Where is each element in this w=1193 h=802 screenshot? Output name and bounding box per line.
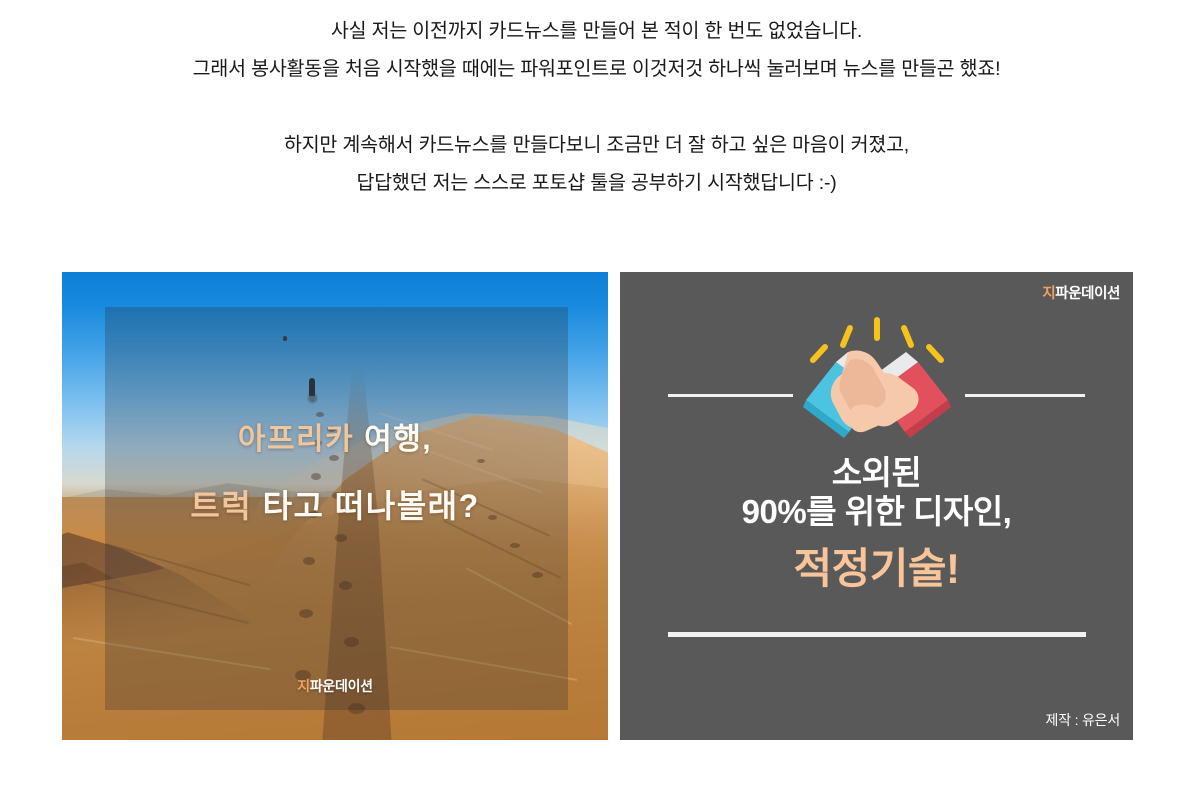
card-news-desert[interactable]: 아프리카 여행, 트럭 타고 떠나볼래? 지파운데이션 bbox=[62, 272, 608, 740]
intro-line-4: 답답했던 저는 스스로 포토샵 툴을 공부하기 시작했답니다 :-) bbox=[0, 164, 1193, 202]
logo-mark: 지 bbox=[1042, 286, 1055, 302]
logo-wordmark: 파운데이션 bbox=[310, 678, 373, 694]
divider-rule-bottom bbox=[668, 632, 1086, 637]
intro-line-1: 사실 저는 이전까지 카드뉴스를 만들어 본 적이 한 번도 없었습니다. bbox=[0, 12, 1193, 50]
desert-title-word-travel: 여행, bbox=[364, 423, 432, 456]
desert-title-line-1: 아프리카 여행, bbox=[62, 420, 608, 461]
desert-card-title: 아프리카 여행, 트럭 타고 떠나볼래? bbox=[62, 420, 608, 528]
headline-line-3-accent: 적정기술! bbox=[620, 544, 1133, 594]
intro-text-block: 사실 저는 이전까지 카드뉴스를 만들어 본 적이 한 번도 없었습니다. 그래… bbox=[0, 0, 1193, 202]
desert-card-logo: 지파운데이션 bbox=[62, 676, 608, 696]
headline-line-1: 소외된 bbox=[620, 454, 1133, 493]
intro-line-2: 그래서 봉사활동을 처음 시작했을 때에는 파워포인트로 이것저것 하나씩 눌러… bbox=[0, 50, 1193, 88]
intro-spacer bbox=[0, 88, 1193, 126]
logo-wordmark: 파운데이션 bbox=[1055, 286, 1120, 302]
gray-card-credit: 제작 : 유은서 bbox=[1046, 710, 1120, 730]
desert-title-rest: 타고 떠나볼래? bbox=[263, 488, 480, 524]
intro-line-3: 하지만 계속해서 카드뉴스를 만들다보니 조금만 더 잘 하고 싶은 마음이 커… bbox=[0, 126, 1193, 164]
handshake-illustration bbox=[792, 314, 962, 444]
gray-card-headline: 소외된 90%를 위한 디자인, 적정기술! bbox=[620, 454, 1133, 593]
desert-title-word-africa: 아프리카 bbox=[238, 423, 354, 456]
gray-card-logo: 지파운데이션 bbox=[1042, 282, 1120, 303]
desert-title-line-2: 트럭 타고 떠나볼래? bbox=[62, 485, 608, 528]
card-news-gray[interactable]: 지파운데이션 bbox=[620, 272, 1133, 740]
card-news-gallery: 아프리카 여행, 트럭 타고 떠나볼래? 지파운데이션 지파운데이션 bbox=[0, 272, 1193, 742]
spark-rays bbox=[813, 320, 941, 360]
divider-rule-right bbox=[965, 394, 1085, 397]
desert-title-word-truck: 트럭 bbox=[190, 488, 252, 524]
headline-line-2: 90%를 위한 디자인, bbox=[620, 493, 1133, 532]
divider-rule-left bbox=[668, 394, 793, 397]
logo-mark: 지 bbox=[297, 678, 310, 694]
